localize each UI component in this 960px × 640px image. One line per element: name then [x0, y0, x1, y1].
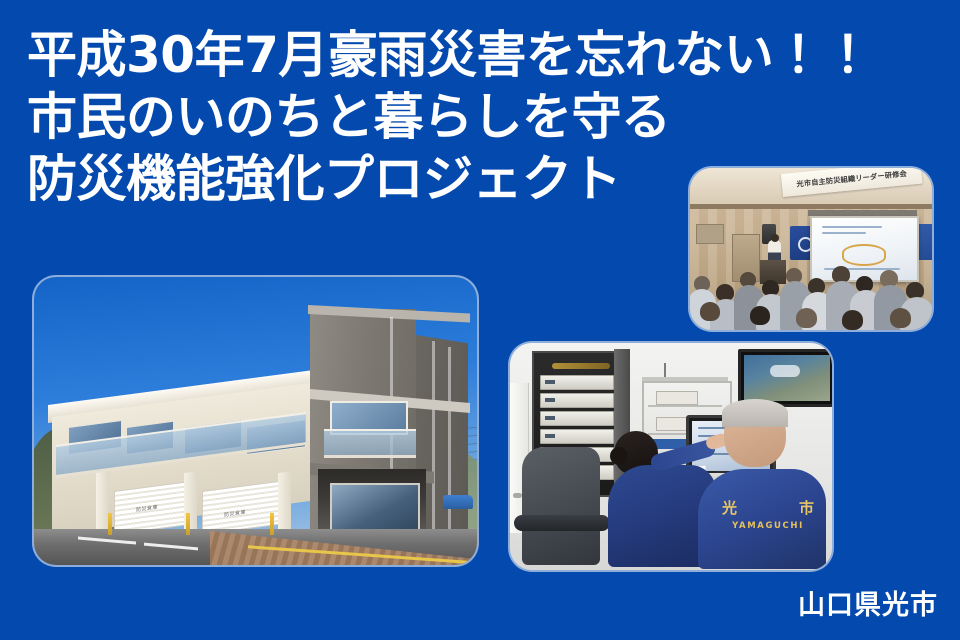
audience-head	[700, 302, 720, 321]
rack-unit	[540, 375, 614, 390]
photo-control-room: 光 市 YAMAGUCHI	[510, 343, 832, 570]
audience-head	[890, 308, 911, 328]
slide-line-1	[822, 226, 882, 228]
slide-line-2	[822, 232, 866, 234]
bollard-2	[186, 513, 190, 535]
rack-unit	[540, 411, 614, 426]
ceiling-beam	[690, 204, 932, 209]
headline-line-2: 市民のいのちと暮らしを守る	[27, 86, 927, 148]
tower-stripe-2	[432, 341, 435, 531]
bollard-3	[270, 513, 274, 535]
poster-canvas: 平成30年7月豪雨災害を忘れない！！ 市民のいのちと暮らしを守る 防災機能強化プ…	[0, 0, 960, 640]
camera-feed-cloud	[770, 365, 800, 377]
uniform-kanji-left: 光	[722, 501, 737, 516]
cabinet-shelf	[648, 405, 722, 407]
seminar-banner-text: 光市自主防災組織リーダー研修会	[796, 169, 907, 190]
rack-unit	[540, 393, 614, 408]
bollard-1	[108, 513, 112, 535]
audience-group	[690, 258, 932, 330]
headline-line-1: 平成30年7月豪雨災害を忘れない！！	[27, 24, 927, 86]
building-photo-inner: 防災倉庫 防災倉庫	[34, 277, 477, 565]
wall-monitor-screen	[744, 355, 830, 401]
photo-leader-training-seminar: 光市自主防災組織リーダー研修会	[690, 168, 932, 330]
staff-female-hair-bun	[610, 447, 628, 465]
audience-head	[750, 306, 770, 325]
staff-male-hair	[722, 399, 788, 427]
rack-cables	[552, 363, 610, 369]
cabinet-box	[656, 391, 698, 405]
control-photo-inner: 光 市 YAMAGUCHI	[510, 343, 832, 570]
uniform-kanji-text: 光 市	[722, 501, 814, 516]
wall-panel	[696, 224, 724, 244]
seminar-photo-inner: 光市自主防災組織リーダー研修会	[690, 168, 932, 330]
city-credit: 山口県光市	[798, 583, 938, 622]
door-handle-icon	[513, 493, 522, 498]
audience-head	[842, 310, 863, 330]
tower-balcony	[324, 429, 416, 458]
photo-disaster-prevention-building: 防災倉庫 防災倉庫	[34, 277, 477, 565]
office-chair-back	[522, 447, 600, 565]
office-chair-armrest	[514, 515, 610, 531]
pillar-3	[278, 471, 291, 535]
rack-unit	[540, 429, 614, 444]
audience-head	[796, 308, 817, 328]
uniform-kanji-right: 市	[799, 501, 814, 516]
parked-car	[443, 495, 473, 509]
staff-male-uniform	[698, 469, 826, 569]
uniform-latin-text: YAMAGUCHI	[718, 521, 818, 531]
